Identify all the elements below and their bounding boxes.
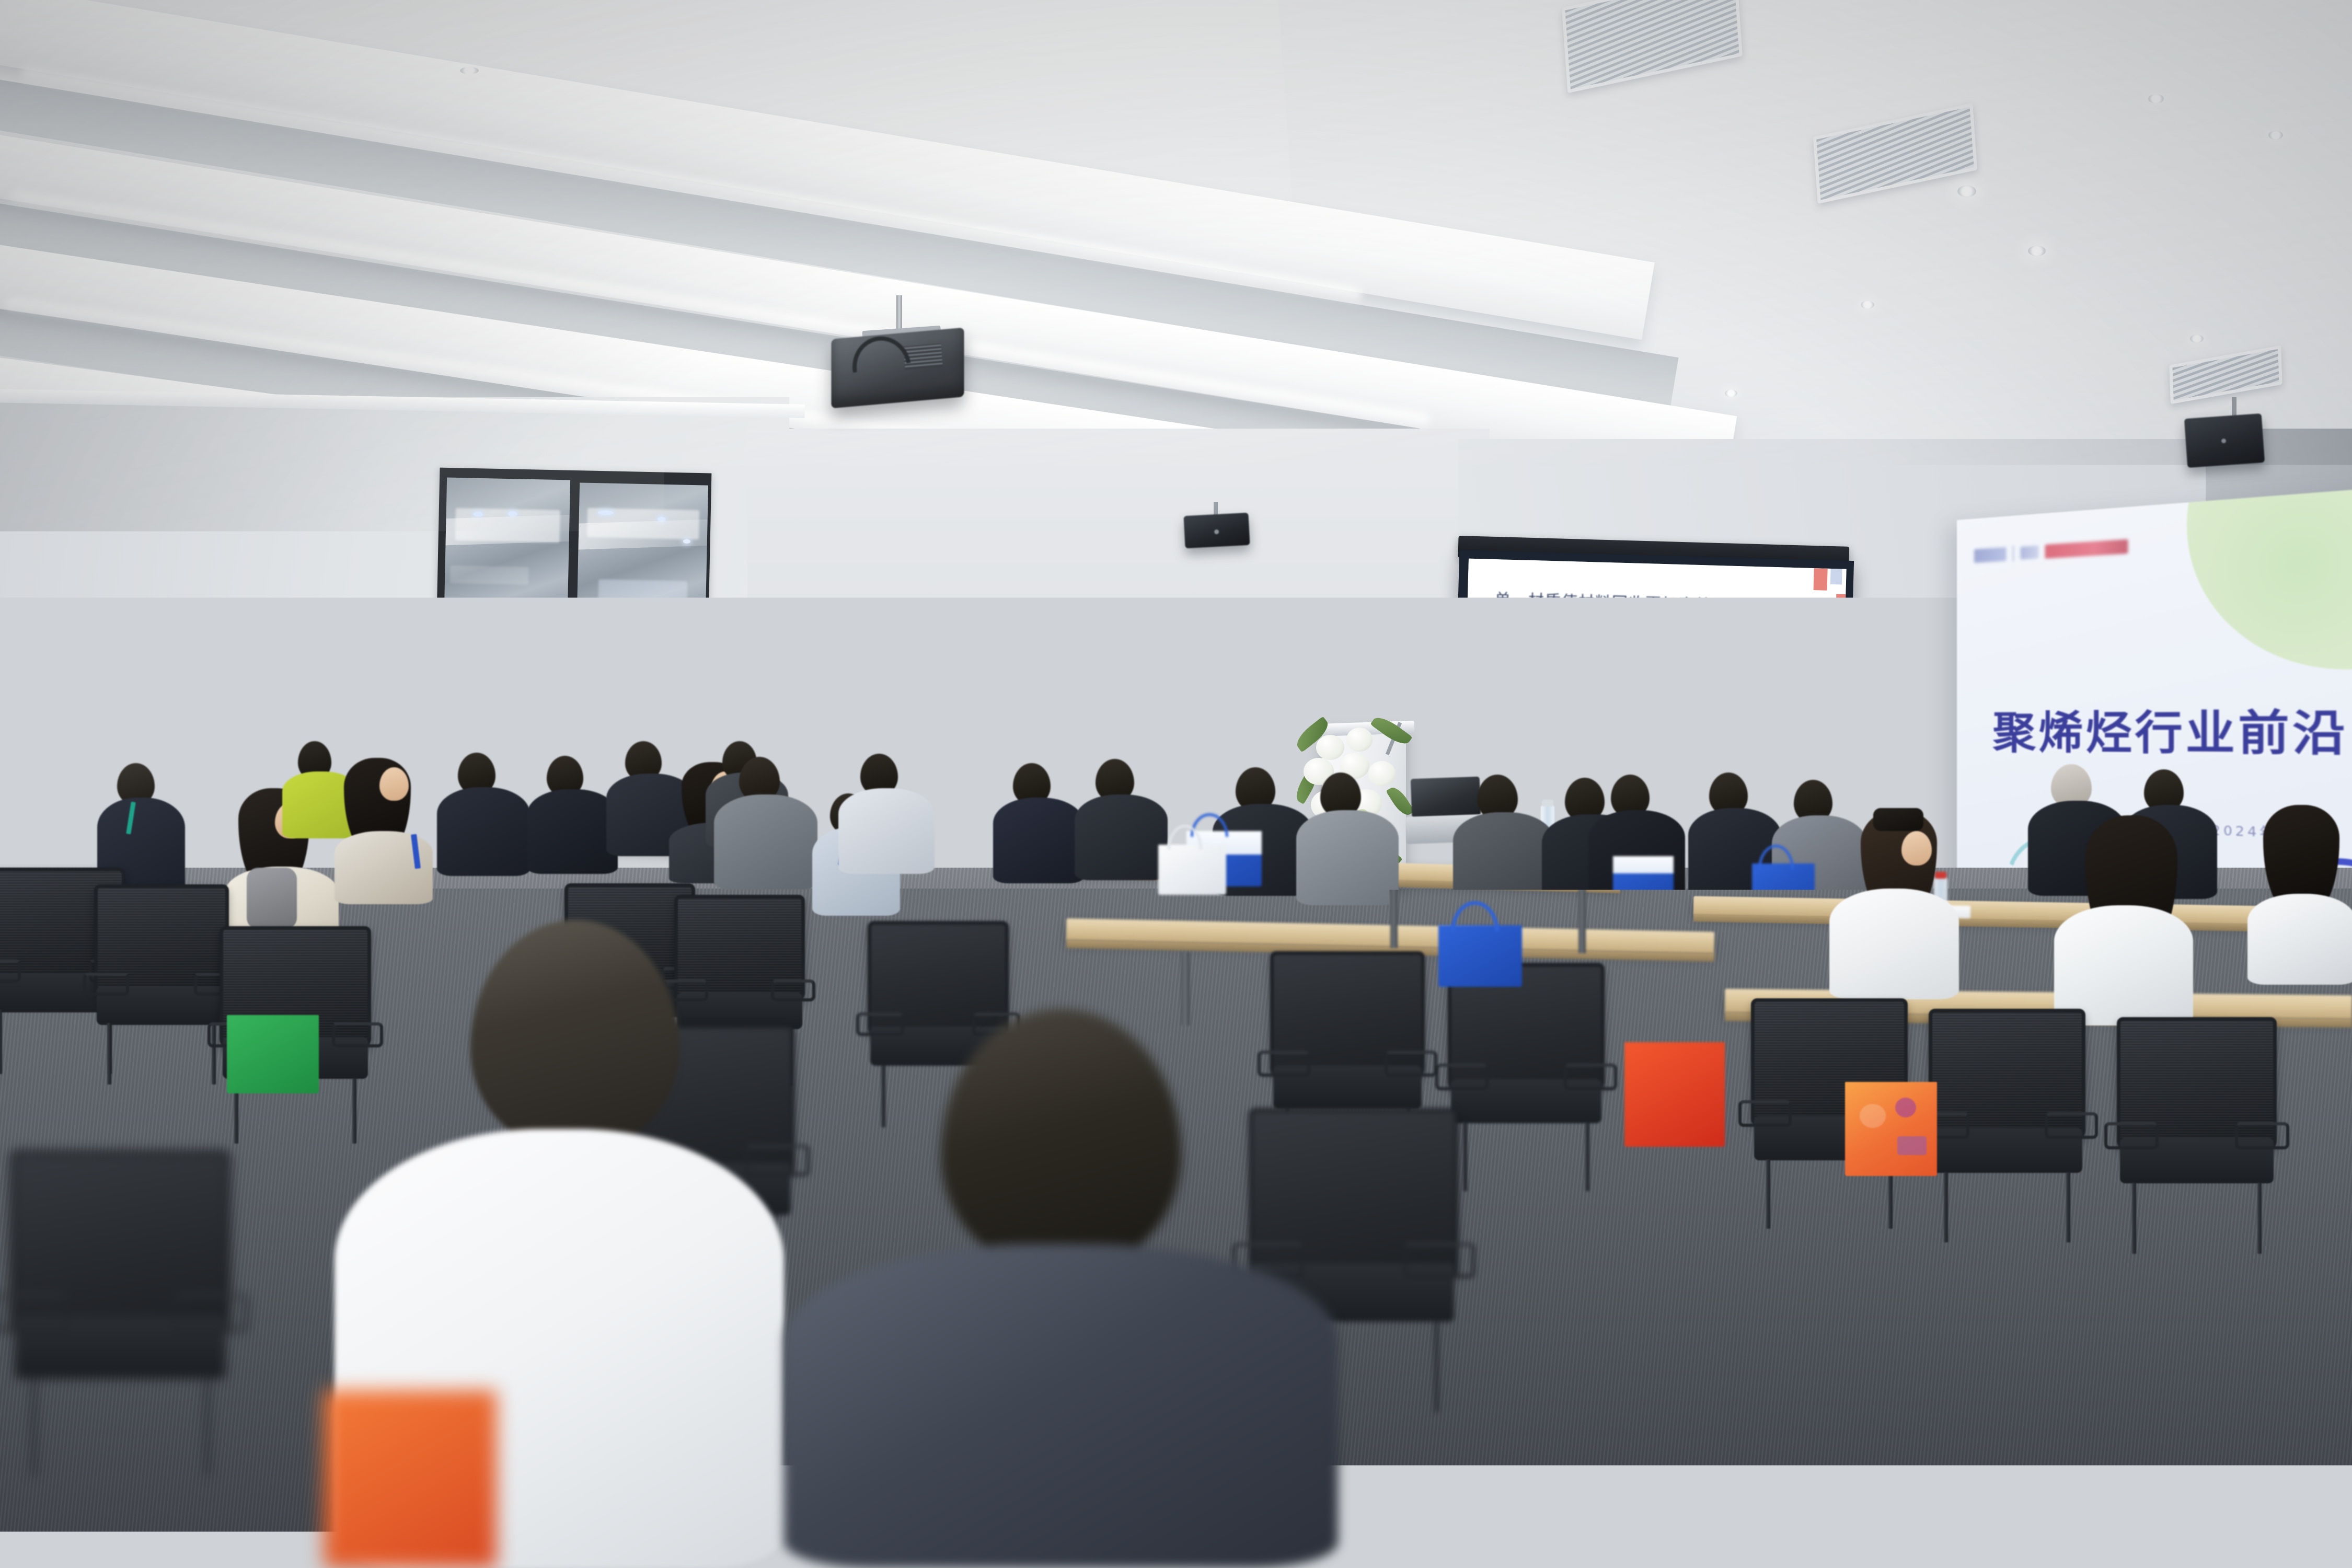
window-glass-pane [577,482,708,640]
presentation-slide: 单一材质使材料回收更加高效 Mono-material Packages Enh… [1462,559,1847,792]
tripod-fluid-head [862,676,903,727]
blue-tote-bag [1438,925,1522,987]
tote-graphic [1860,1104,1886,1128]
banner-green-blob [2187,485,2352,673]
window-light-reflection [658,517,666,522]
door-handle[interactable] [1065,722,1071,751]
chair-legs [1454,1116,1598,1191]
ceiling-mounted-projector [831,328,964,409]
black-mesh-chair[interactable] [94,884,229,1077]
presenter-glasses-icon [1351,656,1383,662]
ceiling-downlight [1725,389,1737,397]
person-head [379,767,409,801]
chair-armrest [2045,1112,2098,1139]
speaker-mount-arm [2232,397,2236,416]
projector-vent-grille [903,343,943,370]
tote-graphic [1897,1136,1927,1155]
chair-armrest [2235,1122,2289,1149]
hero-letter: C [1694,665,1747,738]
window-reflection [598,579,687,619]
tote-graphic [1895,1098,1916,1117]
audience-member [2054,815,2195,1024]
slide-hero-word: R E C Y C L E [1482,653,1819,746]
black-mesh-chair[interactable] [10,1150,230,1463]
hero-letter: C [1588,662,1641,735]
audience-member [1453,775,1555,905]
person-torso [1453,812,1554,907]
hero-letter: Y [1641,664,1693,736]
partner-logo-small-icon [2021,546,2039,560]
floral-leaf [1370,712,1412,749]
person-torso [527,789,618,874]
green-exit-sign-icon [504,621,517,629]
chair-armrest [83,973,129,996]
audience-member [1296,773,1400,903]
blue-tote-bag [1752,863,1815,908]
audience-member [437,753,531,873]
white-tote-bag [1158,845,1226,895]
hero-letter: E [1538,661,1588,733]
event-logo-red-icon [2045,539,2128,559]
chair-armrest [1738,1100,1792,1127]
chair-armrest [1385,1051,1437,1077]
camera-tally-light [848,671,855,678]
floral-bloom [1316,735,1344,760]
blue-tote-bag [1613,856,1674,899]
audience-member [2247,805,2352,983]
backpack [247,868,297,929]
wall-speaker-right [2184,413,2265,468]
ceiling-downlight [2028,246,2046,256]
foreground-attendee [784,1009,1338,1568]
ceiling-downlight [1957,186,1976,197]
black-mesh-chair[interactable] [1448,963,1605,1182]
person-torso [1075,794,1168,880]
projector-mount-pole [896,295,902,333]
ceiling-downlight [2190,335,2204,343]
black-mesh-chair[interactable] [2117,1017,2277,1245]
person-torso [993,798,1084,883]
logo-divider [2012,546,2014,562]
person-head [941,1009,1181,1270]
floral-bloom [1346,728,1373,752]
person-torso [1829,889,1959,999]
audience-member [1829,810,1960,998]
partner-logo-blue-icon [1974,547,2006,563]
black-mesh-chair[interactable] [1929,1009,2085,1233]
slide-accent-tab [1836,594,1846,605]
audience-member [527,756,619,871]
person-torso [784,1244,1338,1568]
person-head [1901,831,1932,866]
camera-tally-light [884,642,892,649]
slide-accent-tab [1830,569,1842,585]
chair-armrest [0,959,21,983]
slide-rule-marker [1481,622,1489,630]
chair-armrest [1435,1064,1489,1090]
person-head [470,920,679,1150]
person-torso [437,787,530,876]
person-torso [2054,905,2193,1025]
chair-legs [19,1369,221,1476]
ceiling-speaker-left [1183,513,1250,548]
audience-member [1075,759,1169,878]
audience-member [714,757,818,887]
window-light-reflection [683,539,690,544]
person-torso [2247,894,2352,985]
hair-clip [1873,808,1923,831]
chair-armrest [173,1294,248,1332]
chair-legs [1935,1166,2079,1242]
chair-armrest [1564,1064,1617,1090]
orange-tote-bag [324,1390,497,1568]
window-glass-pane [444,478,570,637]
ceiling-downlight [2148,94,2164,103]
window-reflection [450,566,529,585]
ceiling-downlight [460,67,479,74]
chair-armrest [0,1294,67,1332]
chair-legs [2123,1177,2270,1254]
conference-photo: 单一材质使材料回收更加高效 Mono-material Packages Enh… [0,0,2352,1568]
banner-logo-row [1974,538,2128,564]
audience-member [335,758,434,899]
orange-tote-bag [1624,1042,1725,1147]
ceiling-downlight [1861,301,1874,309]
window-light-reflection [474,512,483,517]
orange-tote-bag [1845,1082,1937,1176]
projection-screen-frame: 单一材质使材料回收更加高效 Mono-material Packages Enh… [1453,550,1854,801]
banner-title: 聚烯烃行业前沿 [1993,693,2349,764]
hero-letter: L [1747,667,1793,739]
chair-legs [99,1019,223,1085]
green-tote-bag [227,1015,319,1093]
chair-armrest [2104,1122,2159,1149]
slide-accent-tab [1814,568,1828,591]
ceiling-downlight [2268,131,2283,140]
projection-screen-surface: 单一材质使材料回收更加高效 Mono-material Packages Enh… [1462,559,1847,792]
hero-letter: R [1483,660,1538,732]
audience-member [993,763,1085,881]
hero-letter: E [1793,668,1843,740]
tote-top-panel [1613,856,1674,873]
chair-armrest [1404,1243,1475,1278]
slide-accent-tab [1465,643,1474,681]
person-torso [714,794,817,890]
window-light-reflection [508,511,517,516]
door-kickplate [960,616,1022,623]
person-torso [1296,810,1399,905]
